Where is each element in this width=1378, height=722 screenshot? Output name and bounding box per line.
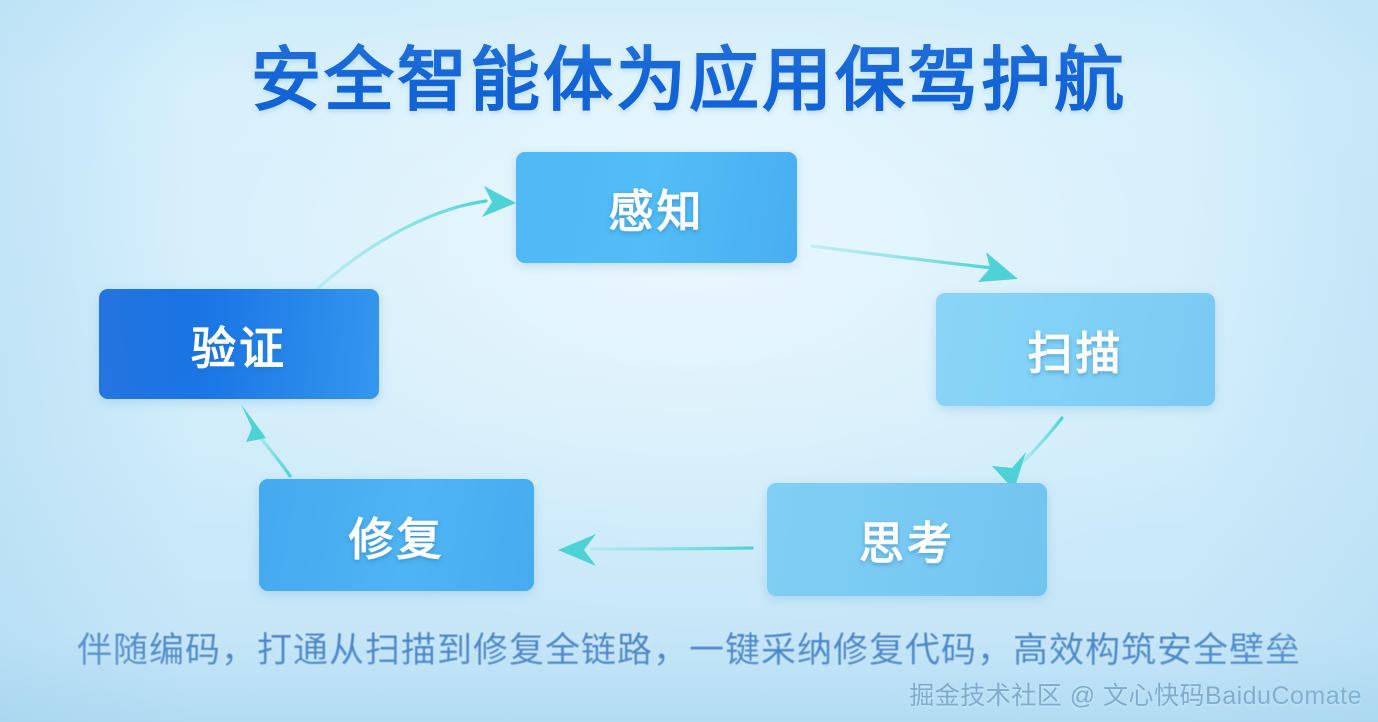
cycle-node-fix[interactable]: 修复 (259, 479, 534, 591)
cycle-node-verify[interactable]: 验证 (99, 289, 379, 399)
arrow-perceive-to-scan (812, 246, 1018, 282)
cycle-node-perceive[interactable]: 感知 (516, 152, 797, 263)
page-title: 安全智能体为应用保驾护航 (0, 24, 1378, 125)
cycle-node-think-label: 思考 (859, 507, 955, 572)
slide-canvas: 安全智能体为应用保驾护航 (0, 0, 1378, 722)
arrow-verify-to-perceive (318, 186, 516, 288)
cycle-node-think[interactable]: 思考 (767, 483, 1047, 596)
arrow-scan-to-think (992, 418, 1062, 490)
cycle-node-fix-label: 修复 (348, 503, 444, 568)
arrow-fix-to-verify (241, 404, 290, 476)
cycle-node-scan-label: 扫描 (1027, 317, 1123, 382)
arrow-think-to-fix (558, 534, 752, 566)
watermark: 掘金技术社区 @ 文心快码BaiduComate (909, 676, 1362, 712)
cycle-node-perceive-label: 感知 (608, 175, 704, 240)
cycle-node-verify-label: 验证 (191, 312, 287, 377)
slide-caption: 伴随编码，打通从扫描到修复全链路，一键采纳修复代码，高效构筑安全壁垒 (0, 622, 1378, 673)
cycle-node-scan[interactable]: 扫描 (936, 293, 1215, 406)
